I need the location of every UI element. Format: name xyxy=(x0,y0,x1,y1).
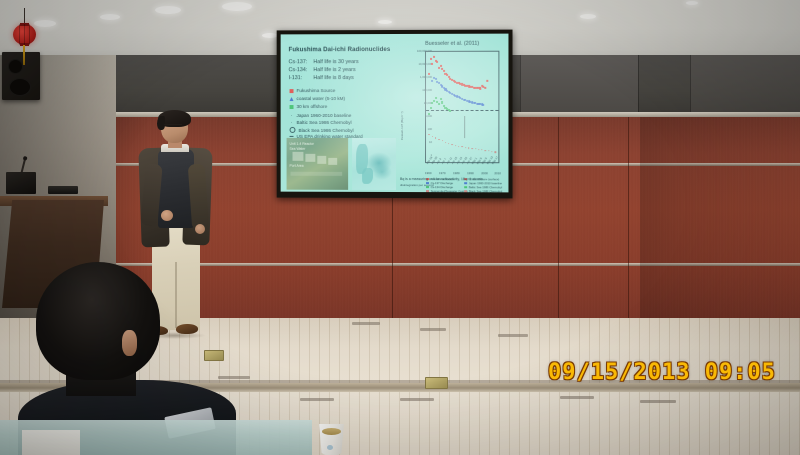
chart-point xyxy=(438,103,440,105)
chart-point xyxy=(452,144,453,145)
photo-label: Sea Water xyxy=(290,147,306,151)
camera-timestamp: 09/15/2013 09:05 xyxy=(548,360,776,385)
chart-point xyxy=(471,148,472,149)
chart-point xyxy=(438,139,439,140)
floor-seam xyxy=(300,398,334,401)
slide-legend-item: coastal water (5-10 kM) xyxy=(290,96,346,101)
chart-point xyxy=(431,63,433,65)
dot-marker-icon: · xyxy=(290,120,294,124)
slide-legend-item: · Japan 1960-2010 baseline xyxy=(290,113,352,118)
isotope-name: I-131: xyxy=(289,75,314,81)
chart-point xyxy=(465,147,466,148)
triangle-marker-icon xyxy=(290,97,294,101)
chart-point xyxy=(478,149,479,150)
legend-label: Black Sea 1986 Chernobyl xyxy=(298,127,353,132)
legend-label: Japan 1960-2010 baseline xyxy=(296,113,351,118)
isotope-row: Cs-137:Half life is 30 years xyxy=(289,59,359,65)
circle-marker-icon xyxy=(290,127,296,133)
photo-label: Unit 1-4 Reactor xyxy=(290,142,314,146)
chart-point xyxy=(433,100,435,102)
chart-point xyxy=(475,148,476,149)
japan-coast-map xyxy=(352,138,396,190)
fukushima-plant-aerial-photo: Unit 1-4 Reactor Sea Water Port Area xyxy=(287,138,349,190)
year-label: 1980 xyxy=(453,171,459,175)
floor-seam xyxy=(498,334,528,337)
legend-label: Fukushima Source xyxy=(296,88,335,93)
chart-point xyxy=(428,113,430,115)
legend-marker-icon xyxy=(464,190,467,192)
slide-footnote: Bq is a measuring unit for radioactivity… xyxy=(400,177,483,181)
chart-point xyxy=(486,80,488,82)
av-equipment xyxy=(6,172,36,194)
chart-point xyxy=(468,147,469,148)
chart-point xyxy=(449,110,451,112)
year-label: 2010 xyxy=(494,171,500,175)
square-marker-icon xyxy=(290,89,294,93)
year-label: 1970 xyxy=(439,171,445,175)
chart-point xyxy=(430,58,432,60)
eyeglasses-icon xyxy=(164,124,182,129)
dashed-line-marker-icon xyxy=(290,136,294,137)
chart-point xyxy=(491,151,492,152)
legend-label: Baltic Sea 1986 Chernobyl xyxy=(296,120,351,125)
chart-point xyxy=(484,87,486,89)
cup-logo xyxy=(327,445,333,450)
chart-point xyxy=(433,56,435,58)
isotope-row: Cs-134:Half life is 2 years xyxy=(289,67,356,73)
isotope-halflife: Half life is 2 years xyxy=(313,67,355,73)
legend-label: Black Sea 1986 Chernobyl xyxy=(469,189,502,192)
photo-label: Port Area xyxy=(290,164,304,168)
legend-label: coastal water (5-10 kM) xyxy=(296,96,345,101)
slide-footnote-secondary: disintegration per second xyxy=(400,183,434,187)
slide-legend-item: Fukushima Source xyxy=(290,88,336,93)
slide-title: Fukushima Dai-ichi Radionuclides xyxy=(289,46,391,53)
audience-head xyxy=(36,262,160,380)
chart-point xyxy=(436,61,438,63)
chart-point xyxy=(443,70,445,72)
square-marker-icon xyxy=(290,105,294,109)
chart-y-axis-label: Cesium-137 (Bq m⁻³) xyxy=(400,111,404,140)
chart-point xyxy=(442,140,443,141)
chart-point xyxy=(428,134,429,135)
chart-point xyxy=(432,136,433,137)
floor-seam xyxy=(560,396,594,399)
chart-point xyxy=(445,142,446,143)
year-label: 2000 xyxy=(481,171,487,175)
chart-point xyxy=(441,101,443,103)
isotope-name: Cs-137: xyxy=(289,59,314,65)
legend-label: Suspended/Seawater Cesium xyxy=(431,189,468,192)
paper-sheet xyxy=(22,430,80,455)
chart-title: Buesseler et al. (2011) xyxy=(398,41,506,47)
legend-marker-icon xyxy=(426,190,429,193)
year-label: 1990 xyxy=(467,171,473,175)
chart-point xyxy=(430,107,432,109)
chart-point xyxy=(440,98,442,100)
isotope-row: I-131:Half life is 8 days xyxy=(289,75,354,81)
legend-marker-icon xyxy=(464,186,467,189)
epa-standard-line xyxy=(426,110,498,111)
chart-point xyxy=(488,150,489,151)
presenter-hand xyxy=(195,224,205,234)
red-paper-lantern xyxy=(13,24,36,45)
chart-point xyxy=(435,137,436,138)
chart-point xyxy=(431,80,433,82)
slide-legend-item: 30 km offshore xyxy=(290,104,328,109)
laptop[interactable] xyxy=(48,186,78,194)
lecture-hall-photo: Fukushima Dai-ichi Radionuclides Cs-137:… xyxy=(0,0,800,455)
chart-point xyxy=(448,143,449,144)
floor-seam xyxy=(352,322,380,325)
chart-plot-area xyxy=(425,51,499,164)
chart-point xyxy=(479,87,481,89)
isotope-halflife: Half life is 8 days xyxy=(313,75,354,81)
slide-legend-item: · Baltic Sea 1986 Chernobyl xyxy=(290,120,352,125)
dot-marker-icon: · xyxy=(290,114,294,118)
floor-seam xyxy=(400,398,434,401)
chart-legend-item: Black Sea 1986 Chernobyl xyxy=(464,189,502,192)
chart-point xyxy=(435,97,437,99)
chart-point xyxy=(428,73,430,75)
legend-marker-icon xyxy=(464,182,467,185)
chart-point xyxy=(431,102,433,104)
year-label: 1960 xyxy=(425,171,431,175)
slide-legend-item: Black Sea 1986 Chernobyl xyxy=(290,127,354,133)
chart-point xyxy=(485,150,486,151)
isotope-name: Cs-134: xyxy=(289,67,314,73)
wall-speaker xyxy=(2,52,40,100)
floor-outlet-cover xyxy=(425,377,448,389)
chart-point xyxy=(481,149,482,150)
projection-screen: Fukushima Dai-ichi Radionuclides Cs-137:… xyxy=(277,30,513,199)
lantern-tassel xyxy=(23,45,25,65)
chart-legend-item: Suspended/Seawater Cesium xyxy=(426,189,468,192)
presenter-hand xyxy=(161,210,173,221)
cup-liquid xyxy=(322,428,341,435)
chart-point xyxy=(483,104,485,106)
floor-seam xyxy=(420,328,446,331)
floor-seam xyxy=(640,400,676,403)
legend-label: 30 km offshore xyxy=(296,104,327,109)
isotope-halflife: Half life is 30 years xyxy=(313,59,358,65)
data-vertical-band xyxy=(464,116,465,138)
chart-point xyxy=(495,152,496,153)
chart-point xyxy=(440,65,442,67)
projected-slide: Fukushima Dai-ichi Radionuclides Cs-137:… xyxy=(281,34,509,193)
chart-point xyxy=(461,146,462,147)
chart-point xyxy=(455,145,456,146)
chart-point xyxy=(458,146,459,147)
cesium-137-scatter-chart: Buesseler et al. (2011) Cesium-137 (Bq m… xyxy=(398,40,506,191)
